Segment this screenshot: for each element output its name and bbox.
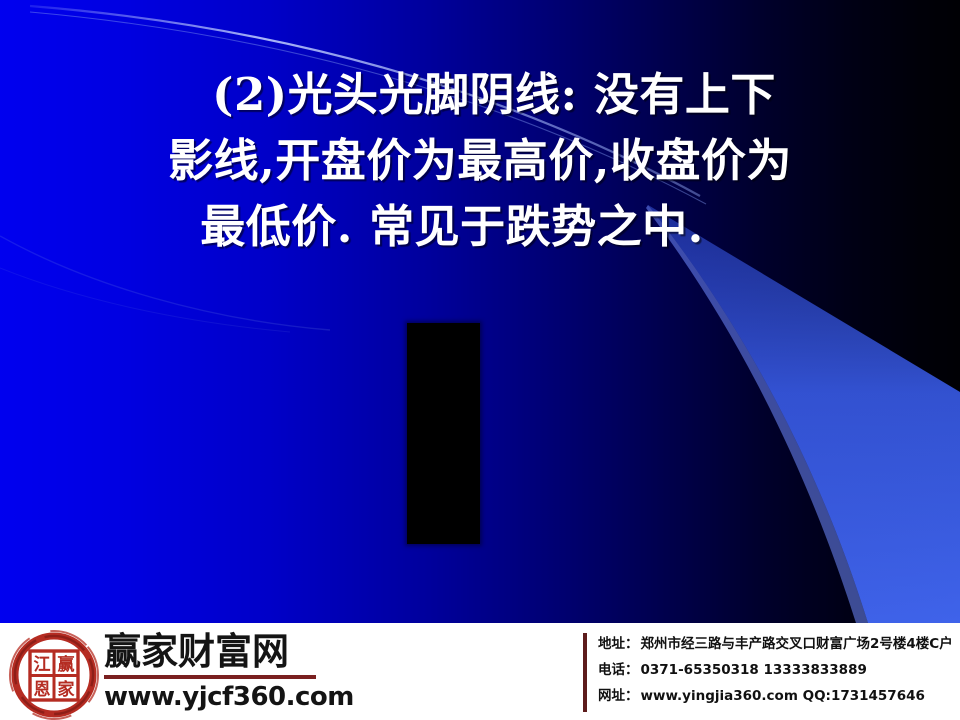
brand-block: 赢家财富网 www.yjcf360.com xyxy=(104,631,322,712)
slide-title-block: (2)光头光脚阴线: 没有上下 影线,开盘价为最高价,收盘价为 最低价. 常见于… xyxy=(0,62,960,260)
seal-icon: 江 赢 恩 家 xyxy=(8,630,100,720)
contact-row-phone: 电话：0371-65350318 13333833889 xyxy=(598,657,958,683)
contact-label-address: 地址： xyxy=(598,636,639,652)
bearish-marubozu-candle xyxy=(407,323,480,544)
brand-name: 赢家财富网 xyxy=(104,631,322,673)
slide-background: (2)光头光脚阴线: 没有上下 影线,开盘价为最高价,收盘价为 最低价. 常见于… xyxy=(0,0,960,623)
title-line-2: 影线,开盘价为最高价,收盘价为 xyxy=(0,128,960,194)
contact-row-address: 地址：郑州市经三路与丰产路交叉口财富广场2号楼4楼C户 xyxy=(598,631,958,657)
seal-char-4: 家 xyxy=(58,679,75,700)
footer-bar: 江 赢 恩 家 赢家财富网 www.yjcf360.com 地址：郑州市经三路与… xyxy=(0,623,960,720)
contact-row-website: 网址：www.yingjia360.com QQ:1731457646 xyxy=(598,683,958,709)
contact-value-phone: 0371-65350318 13333833889 xyxy=(641,662,867,678)
contact-value-website[interactable]: www.yingjia360.com QQ:1731457646 xyxy=(641,688,925,704)
brand-url[interactable]: www.yjcf360.com xyxy=(104,682,322,712)
hairline-curve-left-2 xyxy=(0,268,290,332)
slide-canvas: (2)光头光脚阴线: 没有上下 影线,开盘价为最高价,收盘价为 最低价. 常见于… xyxy=(0,0,960,720)
footer-divider xyxy=(583,633,587,712)
seal-char-3: 恩 xyxy=(34,680,51,700)
wedge-glow xyxy=(648,205,960,623)
title-line-3: 最低价. 常见于跌势之中. xyxy=(0,194,960,260)
seal-char-2: 赢 xyxy=(58,654,75,675)
brand-rule xyxy=(104,675,316,679)
contact-value-address: 郑州市经三路与丰产路交叉口财富广场2号楼4楼C户 xyxy=(641,636,953,652)
site-logo[interactable]: 江 赢 恩 家 赢家财富网 www.yjcf360.com xyxy=(6,627,326,719)
seal-char-1: 江 xyxy=(34,655,51,675)
title-line-1: (2)光头光脚阴线: 没有上下 xyxy=(0,62,960,128)
contact-block: 地址：郑州市经三路与丰产路交叉口财富广场2号楼4楼C户 电话：0371-6535… xyxy=(598,631,958,709)
contact-label-website: 网址： xyxy=(598,688,639,704)
contact-label-phone: 电话： xyxy=(598,662,639,678)
